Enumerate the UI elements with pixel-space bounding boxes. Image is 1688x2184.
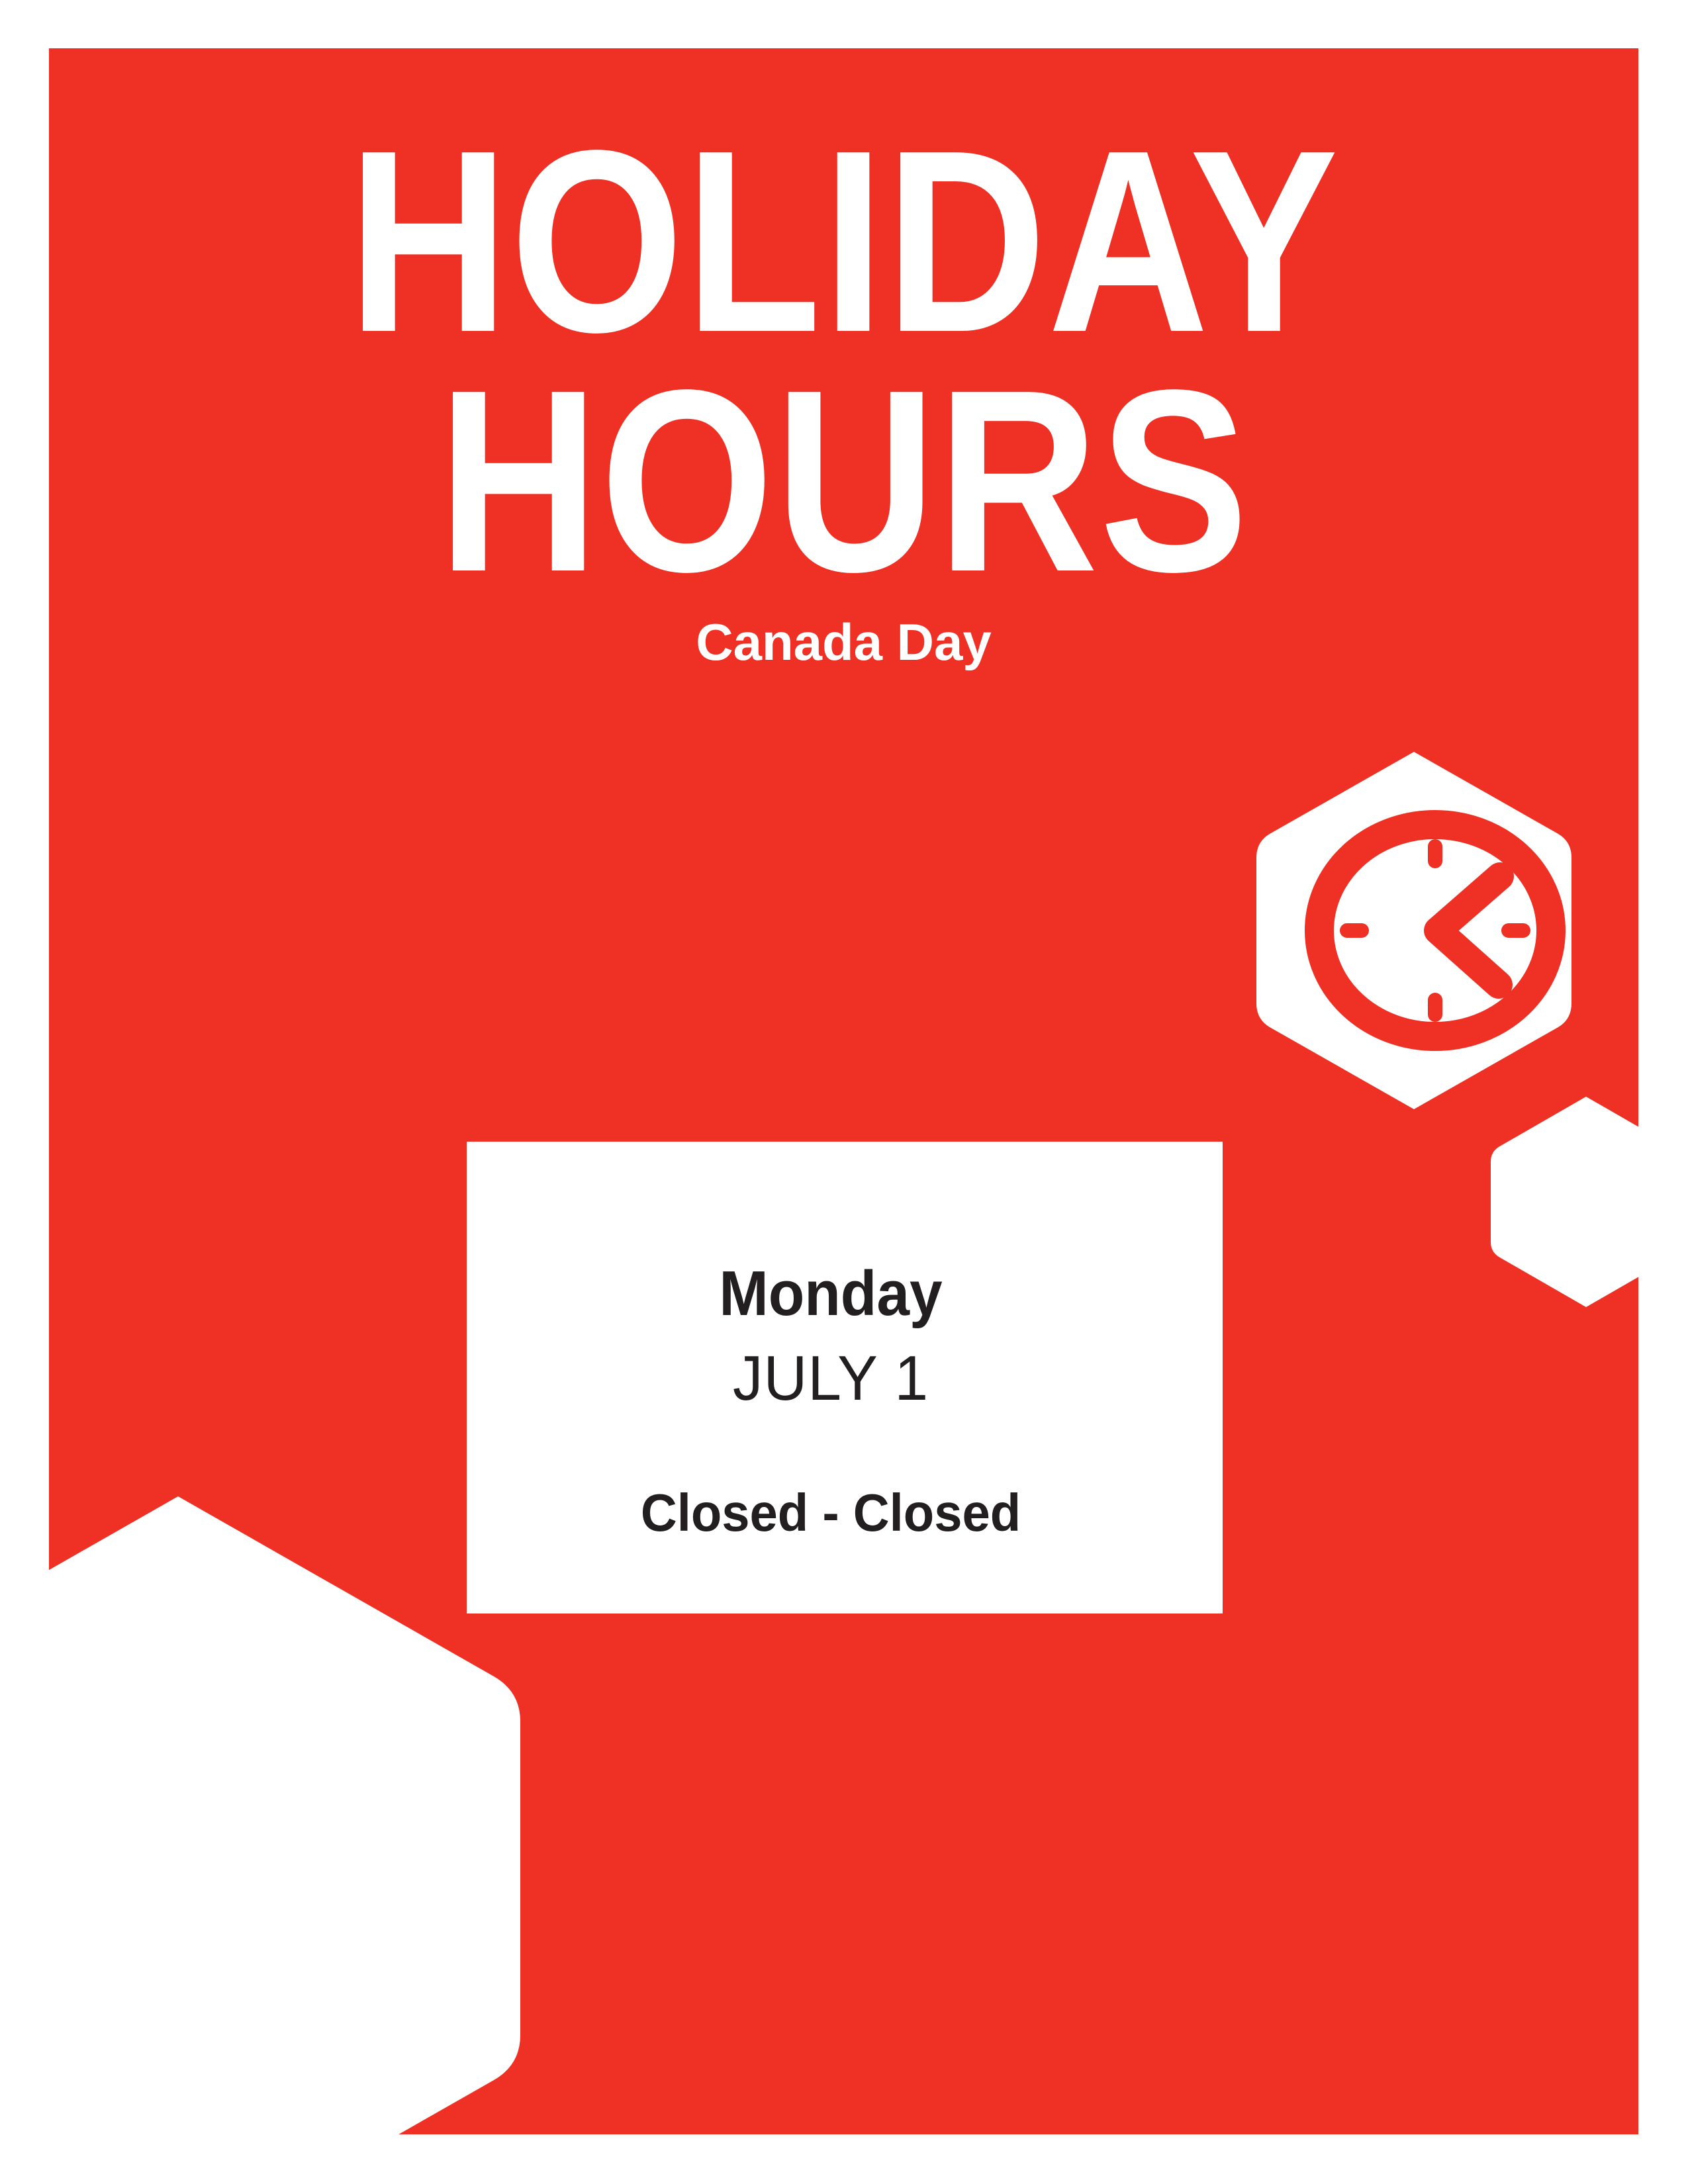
clock-hexagon-icon bbox=[1248, 745, 1579, 1116]
card-hours-label: Closed - Closed bbox=[485, 1486, 1177, 1539]
hexagon-decoration-icon-large bbox=[49, 1484, 532, 2134]
hexagon-decoration-icon-small bbox=[1487, 1093, 1638, 1311]
page-title-line-1: HOLIDAY bbox=[160, 122, 1527, 361]
panel-clip-region: HOLIDAY HOURS Canada Day bbox=[49, 48, 1638, 2134]
card-date-label: JULY 1 bbox=[485, 1347, 1177, 1410]
page-title-line-2: HOURS bbox=[160, 362, 1527, 601]
poster-page: HOLIDAY HOURS Canada Day bbox=[0, 0, 1688, 2184]
holiday-info-card: Monday JULY 1 Closed - Closed bbox=[467, 1142, 1223, 1614]
card-day-label: Monday bbox=[492, 1262, 1170, 1326]
page-subtitle: Canada Day bbox=[49, 616, 1638, 668]
holiday-info-card-content: Monday JULY 1 Closed - Closed bbox=[467, 1142, 1195, 1614]
red-background-panel: HOLIDAY HOURS Canada Day bbox=[49, 48, 1638, 2134]
